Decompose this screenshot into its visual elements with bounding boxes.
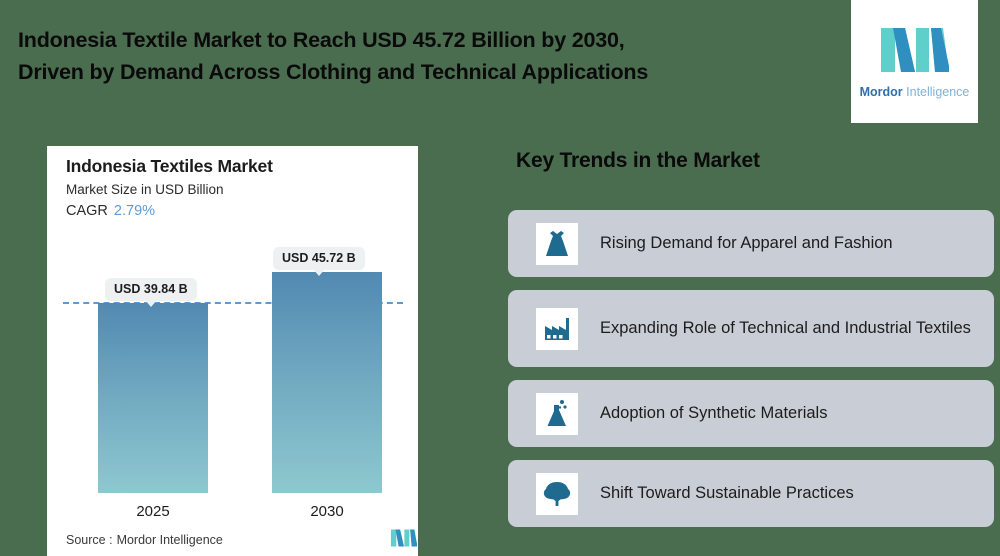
chart-source-value: Mordor Intelligence [117, 533, 223, 547]
trend-card-label: Rising Demand for Apparel and Fashion [600, 232, 893, 255]
trend-card-label: Expanding Role of Technical and Industri… [600, 317, 971, 340]
trends-card-list: Rising Demand for Apparel and Fashion Ex… [508, 210, 994, 540]
x-axis-tick-2030: 2030 [272, 503, 382, 520]
brand-wordmark-light: Intelligence [906, 85, 969, 99]
trend-card-sustainable[interactable]: Shift Toward Sustainable Practices [508, 460, 994, 527]
brand-wordmark: Mordor Intelligence [860, 85, 970, 99]
tree-icon [536, 473, 578, 515]
mordor-logo-footer-icon [385, 528, 418, 548]
bar-2025 [98, 303, 208, 493]
chart-source: Source :Mordor Intelligence [66, 533, 223, 547]
brand-logo: Mordor Intelligence [851, 0, 978, 123]
bar-chart-plot-area: USD 39.84 B USD 45.72 B 2025 2030 [47, 146, 418, 556]
page-title-line-1: Indonesia Textile Market to Reach USD 45… [18, 24, 818, 56]
factory-icon [536, 308, 578, 350]
page-title: Indonesia Textile Market to Reach USD 45… [18, 24, 818, 88]
brand-wordmark-bold: Mordor [860, 85, 903, 99]
page-title-line-2: Driven by Demand Across Clothing and Tec… [18, 56, 818, 88]
bar-value-label-2025: USD 39.84 B [105, 278, 197, 301]
trend-card-technical[interactable]: Expanding Role of Technical and Industri… [508, 290, 994, 367]
trend-card-label: Shift Toward Sustainable Practices [600, 482, 854, 505]
flask-icon [536, 393, 578, 435]
chart-source-label: Source : [66, 533, 113, 547]
bar-value-label-2030: USD 45.72 B [273, 247, 365, 270]
trend-card-label: Adoption of Synthetic Materials [600, 402, 827, 425]
dress-icon [536, 223, 578, 265]
trends-heading: Key Trends in the Market [516, 149, 760, 173]
mordor-logo-icon [879, 24, 951, 76]
bar-2030 [272, 272, 382, 493]
header-banner: Indonesia Textile Market to Reach USD 45… [0, 0, 1000, 125]
trend-card-synthetic[interactable]: Adoption of Synthetic Materials [508, 380, 994, 447]
chart-card: Indonesia Textiles Market Market Size in… [47, 146, 418, 556]
trend-card-apparel[interactable]: Rising Demand for Apparel and Fashion [508, 210, 994, 277]
x-axis-tick-2025: 2025 [98, 503, 208, 520]
